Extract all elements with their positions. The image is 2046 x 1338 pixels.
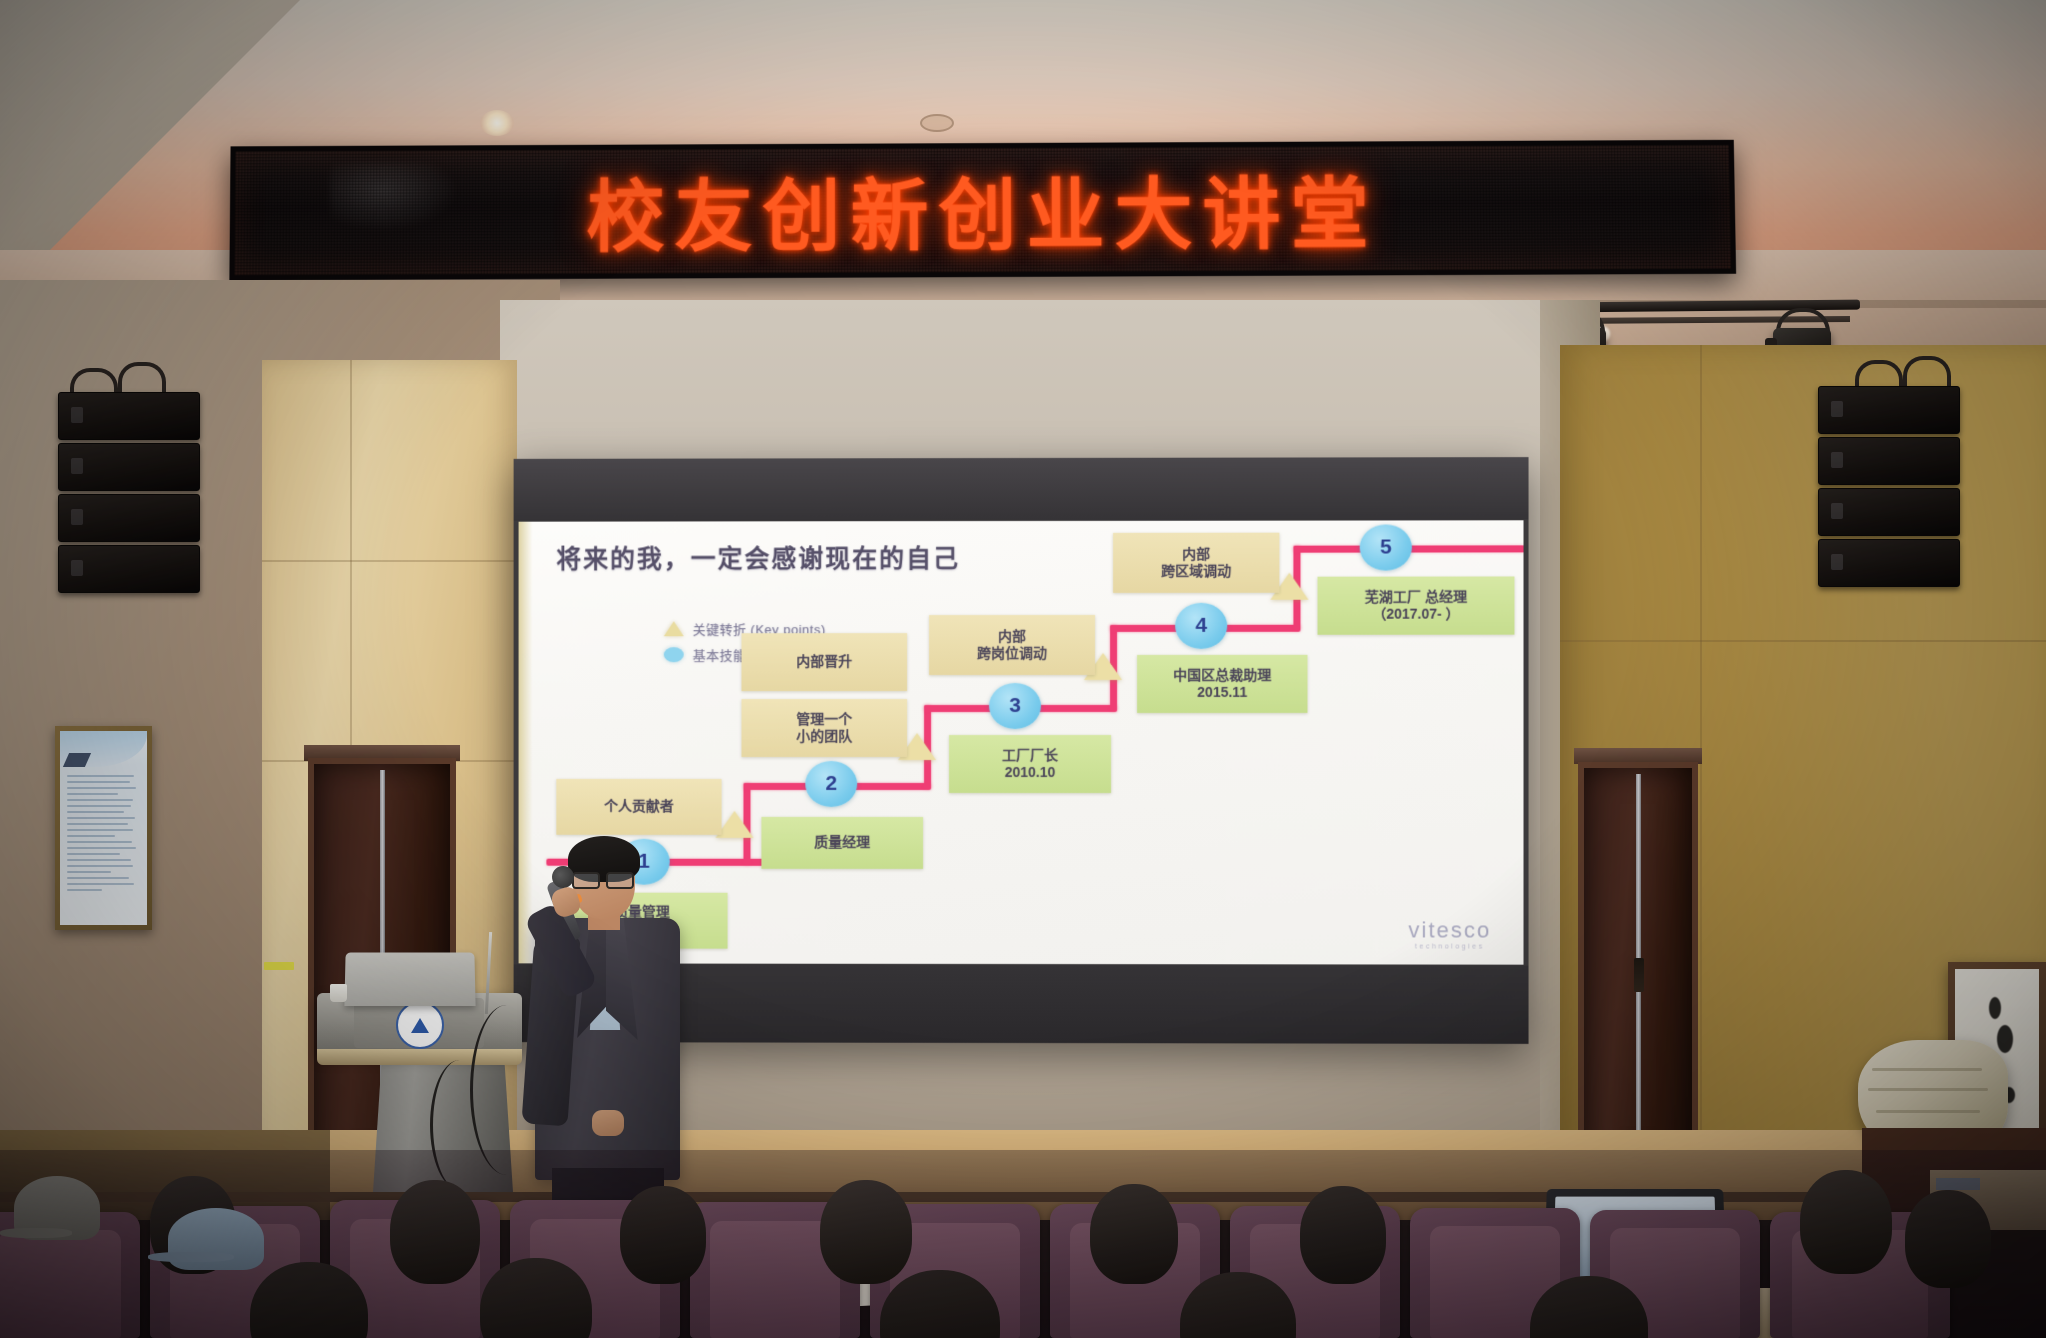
cap-brim (0, 1228, 72, 1238)
skill-box-text: 内部 (1182, 545, 1210, 563)
speaker-cabinet (58, 443, 200, 491)
skill-box-text: 跨岗位调动 (977, 645, 1047, 663)
ink-stroke (1997, 1025, 2013, 1053)
logo-wordmark: vitesco (1408, 917, 1491, 943)
emblem-glyph-icon (411, 1018, 429, 1033)
role-box-date: （2017.07- ） (1372, 606, 1460, 624)
university-emblem (396, 1001, 444, 1049)
vitesco-logo: vitesco technologies (1408, 917, 1491, 950)
cloth-fold (1868, 1088, 1988, 1091)
laptop-sticker (264, 962, 294, 970)
presentation-slide: 将来的我，一定会感谢现在的自己 关键转折 (Key points) 基本技能 (… (519, 520, 1524, 964)
speaker-cabinet (58, 392, 200, 440)
speaker-cabinet (58, 494, 200, 542)
glasses-lens (572, 872, 600, 889)
wall-seam (262, 560, 517, 562)
role-box: 中国区总裁助理 2015.11 (1137, 655, 1307, 713)
step-node-4: 4 (1175, 603, 1227, 649)
banner-title-text: 校友创新创业大讲堂 (586, 152, 1379, 267)
step-node-label: 2 (825, 772, 837, 796)
skill-box-text: 内部晋升 (796, 653, 852, 671)
role-box-title: 中国区总裁助理 (1173, 666, 1271, 684)
cloth-fold (1872, 1068, 1982, 1071)
role-box: 质量经理 (761, 817, 923, 869)
podium-laptop (344, 953, 475, 1006)
step-node-label: 5 (1380, 536, 1392, 560)
downlight (480, 110, 514, 136)
skill-box-text: 管理一个 (796, 711, 852, 728)
step-node-5: 5 (1360, 524, 1412, 570)
audience-head (820, 1180, 912, 1284)
audience-head (390, 1180, 480, 1284)
ink-stroke (1989, 997, 2001, 1019)
speaker-hang-bracket (1903, 356, 1951, 386)
skill-box: 个人贡献者 (556, 779, 721, 835)
role-box-title: 芜湖工厂 总经理 (1365, 588, 1467, 606)
glasses-icon (572, 872, 634, 886)
step-node-label: 3 (1009, 694, 1021, 718)
door-handle (1634, 958, 1644, 992)
lecture-hall-photo: 校友创新创业大讲堂 (0, 0, 2046, 1338)
audience-head (1905, 1190, 1991, 1288)
ceiling-vent-icon (920, 114, 954, 132)
speaker-cabinet (58, 545, 200, 593)
career-staircase-diagram: 1 2 3 4 5 个人贡献者 质量管理 (519, 520, 1524, 964)
skill-box: 内部晋升 (741, 633, 907, 691)
role-box-title: 工厂厂长 (1002, 746, 1058, 764)
audience-head (1090, 1184, 1178, 1284)
presenter-hand (592, 1110, 624, 1136)
screen-top-masking (514, 457, 1529, 521)
speaker-cabinet (1818, 488, 1960, 536)
audience-head (1300, 1186, 1386, 1284)
speaker-cabinet (1818, 386, 1960, 434)
step-node-3: 3 (989, 683, 1041, 729)
cloth-fold (1876, 1110, 1980, 1113)
skill-box: 管理一个 小的团队 (741, 699, 907, 757)
skill-box: 内部 跨区域调动 (1113, 533, 1279, 593)
wall-notice-poster (60, 731, 147, 925)
led-banner: 校友创新创业大讲堂 (229, 140, 1736, 281)
speaker-cabinet (1818, 539, 1960, 587)
audience-head (620, 1186, 706, 1284)
skill-box-text: 小的团队 (796, 728, 852, 745)
role-box-date: 2010.10 (1005, 764, 1056, 782)
step-node-2: 2 (805, 761, 857, 807)
poster-body-text (67, 775, 140, 895)
skill-box-text: 内部 (998, 627, 1026, 645)
line-array-right (1818, 386, 1960, 587)
banner-glare (330, 162, 460, 233)
role-box-date: 2015.11 (1197, 684, 1247, 702)
role-box-title: 质量经理 (814, 834, 870, 852)
cap-brim (148, 1252, 234, 1262)
role-box: 工厂厂长 2010.10 (949, 735, 1111, 793)
skill-box-text: 跨区域调动 (1161, 563, 1231, 581)
skill-box: 内部 跨岗位调动 (929, 615, 1095, 675)
step-node-label: 4 (1195, 614, 1207, 638)
logo-tagline: technologies (1408, 943, 1491, 950)
paper-cup (330, 984, 347, 1002)
role-box: 芜湖工厂 总经理 （2017.07- ） (1318, 576, 1515, 634)
line-array-left (58, 392, 200, 593)
wall-seam (1560, 640, 2046, 642)
skill-box-text: 个人贡献者 (604, 798, 674, 815)
speaker-hang-bracket (118, 362, 166, 392)
wall-notice-frame (55, 726, 152, 930)
speaker-cabinet (1818, 437, 1960, 485)
exit-door-right (1578, 762, 1698, 1168)
glasses-lens (606, 872, 634, 889)
audience-head (1800, 1170, 1892, 1274)
